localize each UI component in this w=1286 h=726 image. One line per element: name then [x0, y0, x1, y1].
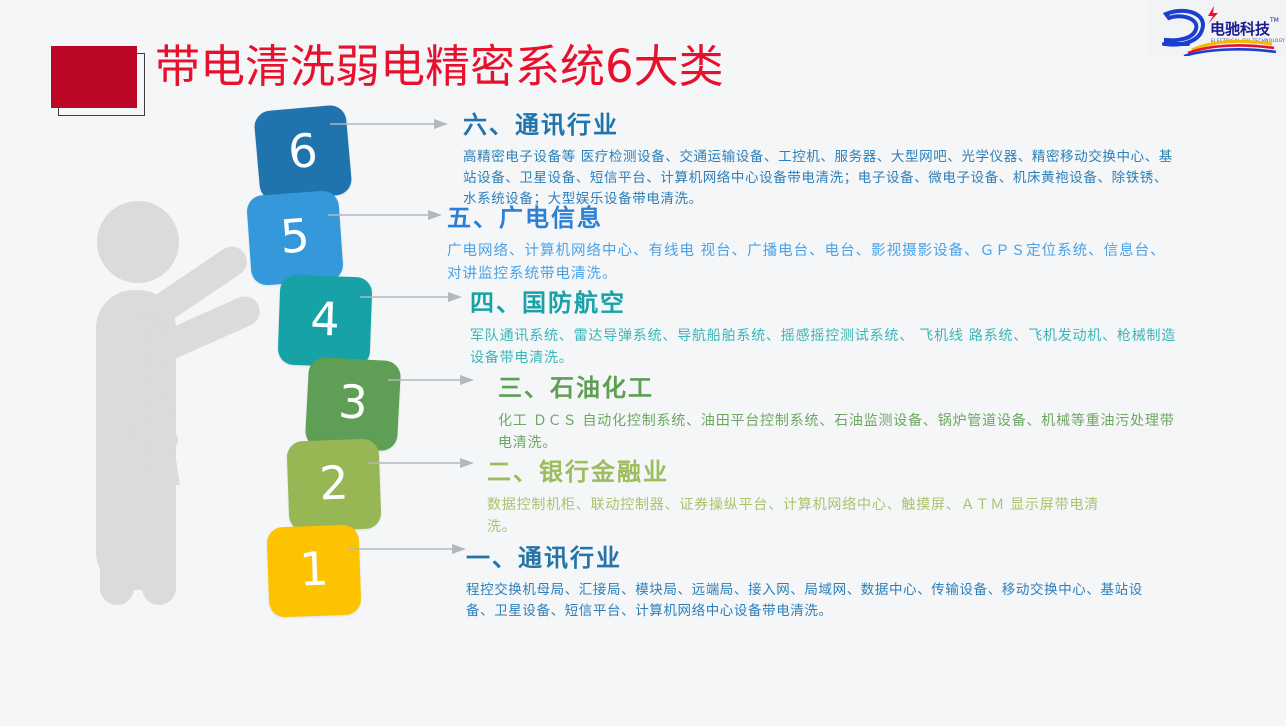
section-three-body: 化工 ＤＣＳ 自动化控制系统、油田平台控制系统、石油监测设备、锅炉管道设备、机械… — [498, 410, 1184, 454]
person-leg-left — [100, 425, 134, 605]
section-four-body: 军队通讯系统、雷达导弹系统、导航船舶系统、摇感摇控测试系统、 飞机线 路系统、飞… — [470, 325, 1182, 369]
section-five-body: 广电网络、计算机网络中心、有线电 视台、广播电台、电台、影视摄影设备、ＧＰＳ定位… — [447, 240, 1181, 286]
page-title: 带电清洗弱电精密系统6大类 — [155, 39, 724, 95]
section-six-body: 高精密电子设备等 医疗检测设备、交通运输设备、工控机、服务器、大型网吧、光学仪器… — [463, 147, 1181, 210]
step-block-5-number: 5 — [279, 212, 311, 260]
section-four: 四、国防航空 军队通讯系统、雷达导弹系统、导航船舶系统、摇感摇控测试系统、 飞机… — [470, 288, 1185, 369]
section-four-heading: 四、国防航空 — [470, 288, 1185, 318]
section-two-body: 数据控制机柜、联动控制器、证券操纵平台、计算机网络中心、触摸屏、ＡＴＭ 显示屏带… — [487, 494, 1107, 538]
connector-arrow-6 — [330, 100, 460, 140]
logo-trademark: TM — [1269, 17, 1279, 24]
person-head — [97, 201, 179, 283]
connector-arrow-2 — [368, 438, 488, 478]
step-block-6-number: 6 — [286, 127, 319, 175]
title-square — [51, 46, 137, 108]
step-block-4[interactable]: 4 — [277, 274, 372, 367]
section-one-body: 程控交换机母局、汇接局、模块局、远端局、接入网、局域网、数据中心、传输设备、移动… — [466, 580, 1170, 622]
step-block-2-number: 2 — [318, 460, 349, 507]
slide-canvas: 电驰科技 ELECTRICAL CHI TECHNOLOGY TM 带电清洗弱电… — [0, 0, 1286, 726]
step-block-4-number: 4 — [310, 296, 341, 343]
section-six-heading: 六、通讯行业 — [463, 110, 1185, 140]
logo-graphic: 电驰科技 ELECTRICAL CHI TECHNOLOGY TM — [1148, 0, 1286, 56]
section-two: 二、银行金融业 数据控制机柜、联动控制器、证券操纵平台、计算机网络中心、触摸屏、… — [487, 457, 1187, 538]
section-three-heading: 三、石油化工 — [498, 373, 1188, 403]
section-five: 五、广电信息 广电网络、计算机网络中心、有线电 视台、广播电台、电台、影视摄影设… — [447, 203, 1185, 286]
section-six: 六、通讯行业 高精密电子设备等 医疗检测设备、交通运输设备、工控机、服务器、大型… — [463, 110, 1185, 210]
section-three: 三、石油化工 化工 ＤＣＳ 自动化控制系统、油田平台控制系统、石油监测设备、锅炉… — [498, 373, 1188, 454]
section-one-heading: 一、通讯行业 — [466, 543, 1186, 573]
step-block-1-number: 1 — [298, 546, 329, 593]
logo-wordmark: 电驰科技 — [1210, 20, 1271, 38]
section-one: 一、通讯行业 程控交换机母局、汇接局、模块局、远端局、接入网、局域网、数据中心、… — [466, 543, 1186, 622]
step-block-3-number: 3 — [337, 378, 369, 425]
connector-arrow-1 — [348, 524, 478, 564]
section-two-heading: 二、银行金融业 — [487, 457, 1187, 487]
connector-arrow-5 — [328, 190, 458, 230]
company-logo: 电驰科技 ELECTRICAL CHI TECHNOLOGY TM — [1148, 0, 1286, 56]
section-five-heading: 五、广电信息 — [447, 203, 1185, 233]
